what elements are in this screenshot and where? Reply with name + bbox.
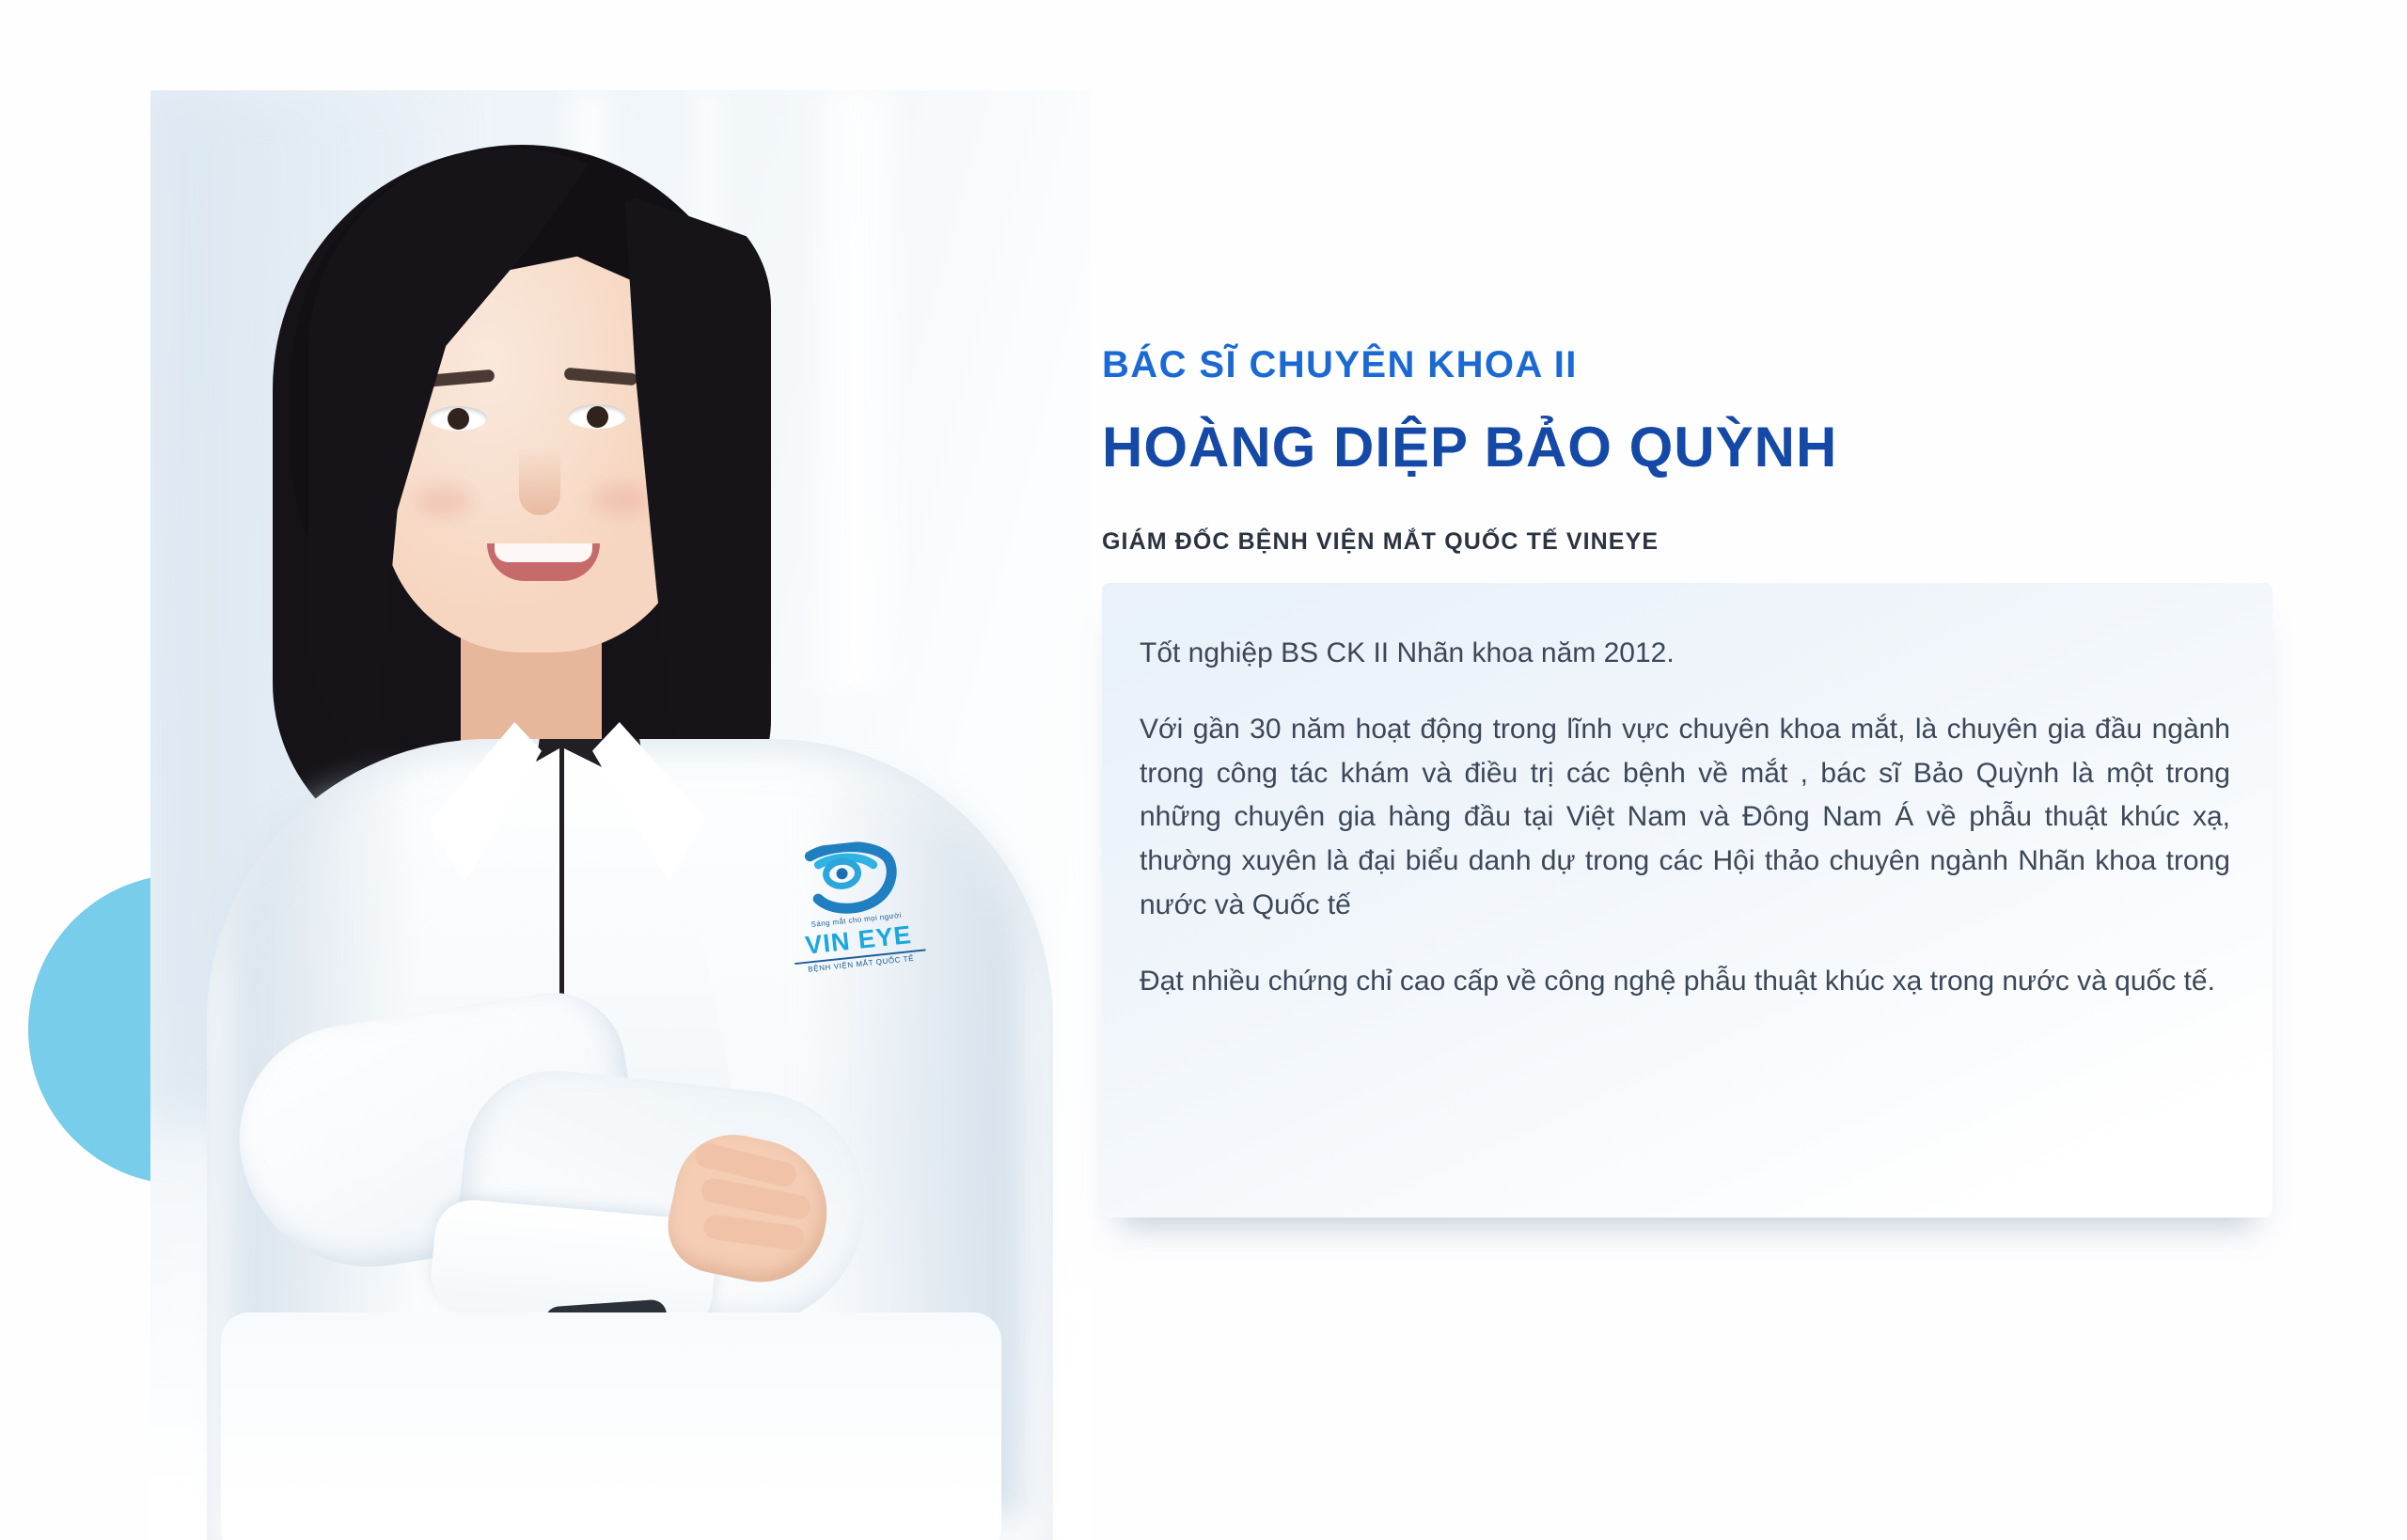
- cheek-right: [592, 483, 649, 515]
- pupil-left: [448, 408, 469, 430]
- specialty-eyebrow: BÁC SĨ CHUYÊN KHOA II: [1102, 344, 1578, 386]
- teeth: [495, 543, 592, 562]
- eye-right: [568, 404, 626, 429]
- bio-paragraph: Tốt nghiệp BS CK II Nhãn khoa năm 2012.: [1140, 632, 2230, 676]
- cheek-left: [416, 485, 472, 517]
- eye-emblem-icon: [801, 838, 903, 920]
- pupil-right: [587, 406, 608, 428]
- profile-content: BÁC SĨ CHUYÊN KHOA II HOÀNG DIỆP BẢO QUỲ…: [1102, 0, 2305, 1540]
- eye-left: [429, 406, 487, 431]
- bio-paragraph: Đạt nhiều chứng chỉ cao cấp về công nghệ…: [1140, 960, 2230, 1004]
- doctor-name: HOÀNG DIỆP BẢO QUỲNH: [1102, 415, 1837, 479]
- doctor-portrait: Sáng mắt cho mọi người VIN EYE BỆNH VIỆN…: [150, 90, 1091, 1540]
- bio-card: Tốt nghiệp BS CK II Nhãn khoa năm 2012. …: [1102, 583, 2273, 1218]
- doctor-photo: Sáng mắt cho mọi người VIN EYE BỆNH VIỆN…: [150, 90, 1091, 1540]
- page-canvas: Sáng mắt cho mọi người VIN EYE BỆNH VIỆN…: [0, 0, 2407, 1540]
- bio-text-container: Tốt nghiệp BS CK II Nhãn khoa năm 2012. …: [1140, 632, 2230, 1004]
- coat-bottom: [221, 1312, 1001, 1540]
- doctor-role: GIÁM ĐỐC BỆNH VIỆN MẮT QUỐC TẾ VINEYE: [1102, 528, 1659, 556]
- nose: [519, 448, 560, 515]
- vineye-logo: Sáng mắt cho mọi người VIN EYE BỆNH VIỆN…: [783, 836, 929, 990]
- bio-paragraph: Với gần 30 năm hoạt động trong lĩnh vực …: [1140, 708, 2230, 928]
